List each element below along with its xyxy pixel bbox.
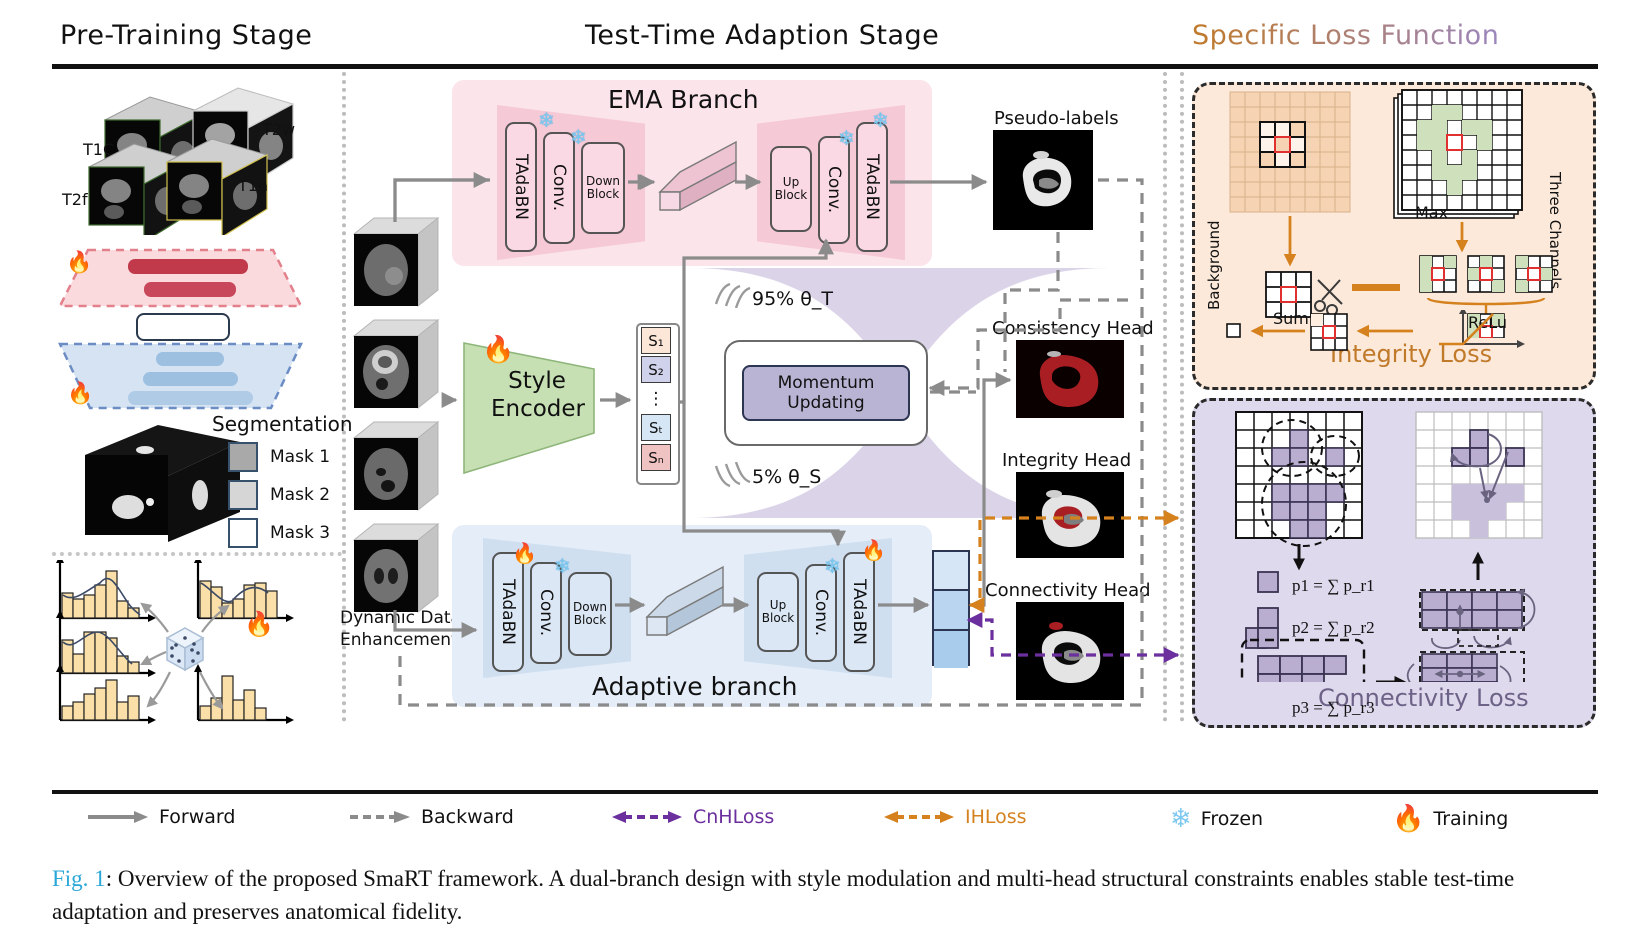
pretrain-encoder bbox=[58, 248, 303, 310]
ema-decoder-block-conv: Conv. bbox=[818, 136, 850, 244]
dashed-arrow-icon bbox=[348, 809, 412, 825]
solid-arrow-icon bbox=[86, 809, 150, 825]
snowflake-icon-adaptive-conv: ❄ bbox=[554, 556, 571, 576]
mask-legend-2: Mask 2 bbox=[228, 480, 330, 510]
mask-legend-3: Mask 3 bbox=[228, 518, 330, 548]
legend-item-ihloss: IHLoss bbox=[884, 806, 1027, 828]
pretrain-decoder bbox=[58, 342, 303, 412]
modality-label-t2w: T2w bbox=[262, 120, 295, 139]
adaptive-encoder-block-down: Down Block bbox=[568, 572, 612, 656]
style-encoder-label-line2: Encoder bbox=[468, 396, 608, 422]
ema-decoder-block-up-label: Up Block bbox=[772, 176, 810, 201]
style-encoder-label-line1: Style bbox=[482, 368, 592, 394]
legend-label-cnhloss: CnHLoss bbox=[693, 806, 774, 828]
adaptive-decoder-block-up: Up Block bbox=[757, 572, 799, 652]
segmentation-cube bbox=[80, 420, 245, 545]
header-rule bbox=[52, 64, 1598, 69]
flame-icon-adaptive-tadabn: 🔥 bbox=[512, 543, 537, 563]
snowflake-icon-ema-dec-conv: ❄ bbox=[838, 128, 855, 148]
legend-label-ihloss: IHLoss bbox=[965, 806, 1027, 828]
mask-swatch-3 bbox=[228, 518, 258, 548]
adaptive-encoder-block-conv-label: Conv. bbox=[536, 589, 556, 636]
pretrain-inner-divider bbox=[52, 552, 342, 556]
integrity-max-label: Max bbox=[1415, 203, 1448, 222]
integrity-output-row bbox=[1225, 310, 1565, 360]
consistency-head-image bbox=[1016, 340, 1124, 418]
theta-teacher-label: 95% θ_T bbox=[752, 288, 833, 310]
ema-encoder-block-tadabn-label: TAdaBN bbox=[511, 154, 531, 220]
ema-encoder-block-down: Down Block bbox=[581, 142, 625, 234]
snowflake-icon-ema-tadabn: ❄ bbox=[538, 110, 555, 130]
theta-student-label: 5% θ_S bbox=[752, 466, 821, 488]
caption-text: : Overview of the proposed SmaRT framewo… bbox=[52, 866, 1514, 924]
adaptive-decoder-block-conv-label: Conv. bbox=[811, 589, 831, 636]
modality-label-t1c: T1C bbox=[83, 140, 114, 159]
pseudo-labels-title: Pseudo-labels bbox=[994, 108, 1119, 129]
adaptive-branch-title: Adaptive branch bbox=[592, 672, 798, 701]
connectivity-p2-label: p2 = ∑ p_r2 bbox=[1292, 618, 1375, 638]
legend-item-backward: Backward bbox=[348, 806, 514, 828]
connectivity-head-title: Connectivity Head bbox=[985, 580, 1151, 601]
mask-legend-1: Mask 1 bbox=[228, 442, 330, 472]
integrity-head-title: Integrity Head bbox=[1002, 450, 1131, 471]
ema-decoder-block-tadabn: TAdaBN bbox=[856, 122, 888, 252]
ema-latent-bar bbox=[658, 140, 740, 222]
flame-icon-style-encoder: 🔥 bbox=[482, 337, 514, 363]
integrity-loss-diagram bbox=[1198, 88, 1584, 338]
theta-student-swoosh bbox=[712, 462, 754, 488]
legend-label-training: Training bbox=[1433, 808, 1508, 830]
figure-caption: Fig. 1: Overview of the proposed SmaRT f… bbox=[52, 862, 1597, 929]
legend-item-training: 🔥 Training bbox=[1392, 804, 1508, 834]
dynamic-data-enhancement-group bbox=[50, 560, 350, 725]
adaptive-decoder-block-tadabn-label: TAdaBN bbox=[849, 579, 869, 645]
segmentation-title: Segmentation bbox=[212, 412, 353, 436]
flame-icon-pretrain-encoder: 🔥 bbox=[66, 252, 92, 273]
legend-item-cnhloss: CnHLoss bbox=[612, 806, 774, 828]
integrity-head-image bbox=[1016, 472, 1124, 558]
ema-encoder-block-down-label: Down Block bbox=[583, 175, 623, 200]
modality-label-t1n: T1n bbox=[238, 176, 268, 195]
ema-decoder-block-tadabn-label: TAdaBN bbox=[862, 154, 882, 220]
adaptive-decoder-block-up-label: Up Block bbox=[759, 599, 797, 624]
head-feature-stack bbox=[932, 550, 970, 666]
connectivity-p3-label: p3 = ∑ p_r3 bbox=[1292, 698, 1375, 718]
loss-stage-title: Specific Loss Function bbox=[1192, 20, 1499, 51]
legend-row: Forward Backward CnHLoss IHLoss bbox=[0, 800, 1649, 852]
connectivity-head-image bbox=[1016, 602, 1124, 700]
flame-icon-adaptive-dec-tadabn: 🔥 bbox=[861, 540, 886, 560]
dde-label-line2: Enhancement bbox=[340, 630, 458, 650]
footer-rule bbox=[52, 790, 1598, 794]
momentum-updating-button[interactable]: Momentum Updating bbox=[742, 365, 910, 421]
figure-root: Pre-Training Stage Test-Time Adaption St… bbox=[0, 0, 1649, 946]
separator-right bbox=[1163, 72, 1167, 722]
flame-icon-dde: 🔥 bbox=[244, 612, 274, 636]
consistency-head-title: Consistency Head bbox=[992, 318, 1154, 339]
connectivity-p1-label: p1 = ∑ p_r1 bbox=[1292, 576, 1375, 596]
dashed-biarrow-icon-ihloss bbox=[884, 809, 956, 825]
snowflake-icon-adaptive-dec-conv: ❄ bbox=[824, 556, 841, 576]
legend-item-forward: Forward bbox=[86, 806, 235, 828]
modality-label-t2f: T2f bbox=[62, 190, 88, 209]
ema-decoder-block-up: Up Block bbox=[770, 146, 812, 232]
adaptive-latent-bar bbox=[645, 565, 727, 647]
momentum-label-line1: Momentum bbox=[778, 373, 875, 393]
tta-stage-title: Test-Time Adaption Stage bbox=[585, 20, 939, 51]
adaptive-decoder-block-conv: Conv. bbox=[805, 564, 837, 662]
pretrain-bottleneck bbox=[136, 313, 230, 341]
adaptive-encoder-block-down-label: Down Block bbox=[570, 601, 610, 626]
pseudo-labels-image bbox=[993, 130, 1093, 230]
style-token-ellipsis: ⋮ bbox=[641, 385, 671, 413]
ema-encoder-block-tadabn: TAdaBN bbox=[505, 122, 537, 252]
ema-branch-title: EMA Branch bbox=[608, 85, 759, 114]
adaptive-encoder-block-tadabn-label: TAdaBN bbox=[498, 579, 518, 645]
style-token-1: S₁ bbox=[641, 327, 671, 354]
ema-decoder-block-conv-label: Conv. bbox=[824, 166, 844, 213]
flame-icon-pretrain-decoder: 🔥 bbox=[67, 383, 93, 404]
ema-encoder-block-conv-label: Conv. bbox=[549, 164, 569, 211]
dashed-biarrow-icon-cnhloss bbox=[612, 809, 684, 825]
legend-label-frozen: Frozen bbox=[1201, 808, 1263, 830]
adaptive-decoder-block-tadabn: TAdaBN bbox=[843, 552, 875, 672]
momentum-label-line2: Updating bbox=[787, 393, 864, 413]
legend-item-frozen: ❄ Frozen bbox=[1170, 804, 1263, 834]
style-token-n: Sₙ bbox=[641, 444, 671, 471]
legend-label-backward: Backward bbox=[421, 806, 514, 828]
style-token-2: S₂ bbox=[641, 356, 671, 383]
snowflake-icon-legend: ❄ bbox=[1170, 804, 1192, 834]
legend-label-forward: Forward bbox=[159, 806, 235, 828]
theta-teacher-swoosh bbox=[712, 282, 754, 308]
snowflake-icon-ema-conv: ❄ bbox=[570, 127, 587, 147]
style-token-t: Sₜ bbox=[641, 414, 671, 441]
mask-label-1: Mask 1 bbox=[270, 447, 330, 467]
mask-swatch-1 bbox=[228, 442, 258, 472]
adaptive-encoder-block-tadabn: TAdaBN bbox=[492, 552, 524, 672]
caption-figure-number: Fig. 1 bbox=[52, 866, 106, 891]
separator-right-2 bbox=[1180, 72, 1184, 722]
mask-swatch-2 bbox=[228, 480, 258, 510]
snowflake-icon-ema-dec-tadabn: ❄ bbox=[872, 110, 889, 130]
pretrain-stage-title: Pre-Training Stage bbox=[60, 20, 312, 51]
connectivity-loss-diagram bbox=[1198, 404, 1584, 682]
mask-label-3: Mask 3 bbox=[270, 523, 330, 543]
input-slice-stack bbox=[352, 212, 442, 632]
mask-label-2: Mask 2 bbox=[270, 485, 330, 505]
flame-icon-legend: 🔥 bbox=[1392, 804, 1424, 834]
